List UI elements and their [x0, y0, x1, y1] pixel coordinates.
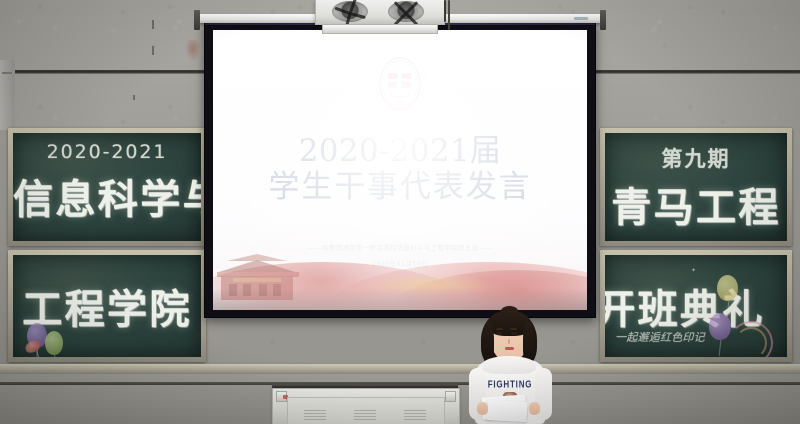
eye-right	[511, 332, 517, 335]
wall-rail	[0, 60, 15, 130]
yellow-balloon	[717, 275, 738, 301]
wall-pin	[152, 46, 154, 55]
roller-end-right	[600, 10, 606, 30]
fan-power-wire	[444, 0, 446, 22]
cabinet-vent	[304, 410, 326, 422]
fan-power-wire-secondary	[448, 0, 450, 30]
slide-title-line2: 学生干事代表发言	[213, 170, 587, 206]
purple-balloon	[27, 323, 47, 348]
roller-label	[574, 17, 588, 20]
roller-end-left	[194, 10, 200, 30]
speech-papers-secondary	[487, 400, 528, 422]
blackboard-left-line1: 2020-2021	[13, 141, 201, 163]
wall-pin	[133, 95, 135, 100]
chalk-sparkle: ✦	[697, 307, 703, 315]
presentation-slide: 1903 2020-2021届 学生干事代表发言 ——共青团湖南第一师范学院信息…	[213, 30, 587, 310]
blackboard-surface: 工程学院 ✦	[13, 255, 201, 357]
red-balloon	[23, 338, 42, 355]
slide-decoration-band	[213, 238, 587, 310]
rainbow-spiral	[729, 321, 773, 357]
wall-pin	[152, 20, 154, 29]
hand-right	[529, 402, 540, 415]
eyebrow-left	[496, 328, 503, 330]
cabinet-panel	[287, 397, 445, 424]
purple-balloon	[709, 313, 731, 340]
chalk-ledge	[0, 364, 800, 374]
eyebrow-right	[510, 328, 517, 330]
slide-title: 2020-2021届 学生干事代表发言	[213, 134, 587, 206]
blackboard-surface: 第九期 青马工程	[605, 133, 787, 241]
university-emblem-icon: 1903	[377, 56, 423, 112]
slide-title-line1: 2020-2021届	[213, 134, 587, 170]
blackboard-right-line3: 开班典礼	[605, 277, 771, 335]
hand-left	[477, 402, 488, 415]
cabinet-latch-left[interactable]	[276, 391, 287, 402]
green-balloon	[45, 331, 63, 355]
blackboard-left-lower: 工程学院 ✦	[8, 250, 206, 362]
chalk-sparkle: ✦	[691, 267, 696, 274]
blackboard-right-upper: 第九期 青马工程	[600, 128, 792, 246]
hood-collar	[482, 356, 536, 374]
blackboard-right-script-note: 一起邂逅红色印记	[605, 329, 751, 345]
hoodie-graphic-text: FIGHTING	[481, 379, 539, 390]
nose	[508, 339, 510, 344]
chalk-sparkle: ✦	[41, 313, 47, 321]
fan-bracket	[322, 24, 438, 34]
projection-screen[interactable]: 1903 2020-2021届 学生干事代表发言 ——共青团湖南第一师范学院信息…	[204, 22, 596, 318]
blackboard-left-line2: 信息科学与	[13, 167, 201, 225]
fan-icon	[388, 1, 424, 22]
blackboard-left-line3: 工程学院	[13, 277, 201, 335]
fan-icon	[332, 1, 368, 22]
cabinet-vent	[404, 410, 426, 422]
eye-left	[496, 332, 502, 335]
cabinet-vent	[354, 410, 376, 422]
ceiling-fan-unit	[315, 0, 445, 25]
mouth	[505, 347, 514, 350]
wall-rail-bar	[2, 72, 12, 74]
blackboard-surface: 2020-2021 信息科学与	[13, 133, 201, 241]
blackboard-surface: 开班典礼 一起邂逅红色印记 ✦ ✦	[605, 255, 787, 357]
blackboard-right-line1: 第九期	[605, 143, 787, 173]
svg-text:1903: 1903	[395, 102, 406, 107]
blackboard-right-line2: 青马工程	[605, 175, 787, 233]
wall-cabinet[interactable]	[272, 388, 460, 424]
wall-stain	[185, 40, 201, 62]
blackboard-left-upper: 2020-2021 信息科学与	[8, 128, 206, 246]
rainbow-spiral-inner	[735, 327, 767, 357]
blackboard-right-lower: 开班典礼 一起邂逅红色印记 ✦ ✦	[600, 250, 792, 362]
student-speaker: FIGHTING CLUB	[455, 306, 563, 424]
tiananmen-illustration	[215, 252, 303, 304]
classroom-scene: 2020-2021 信息科学与 工程学院 ✦ 第九期 青马工程 开班典礼 一起邂…	[0, 0, 800, 424]
